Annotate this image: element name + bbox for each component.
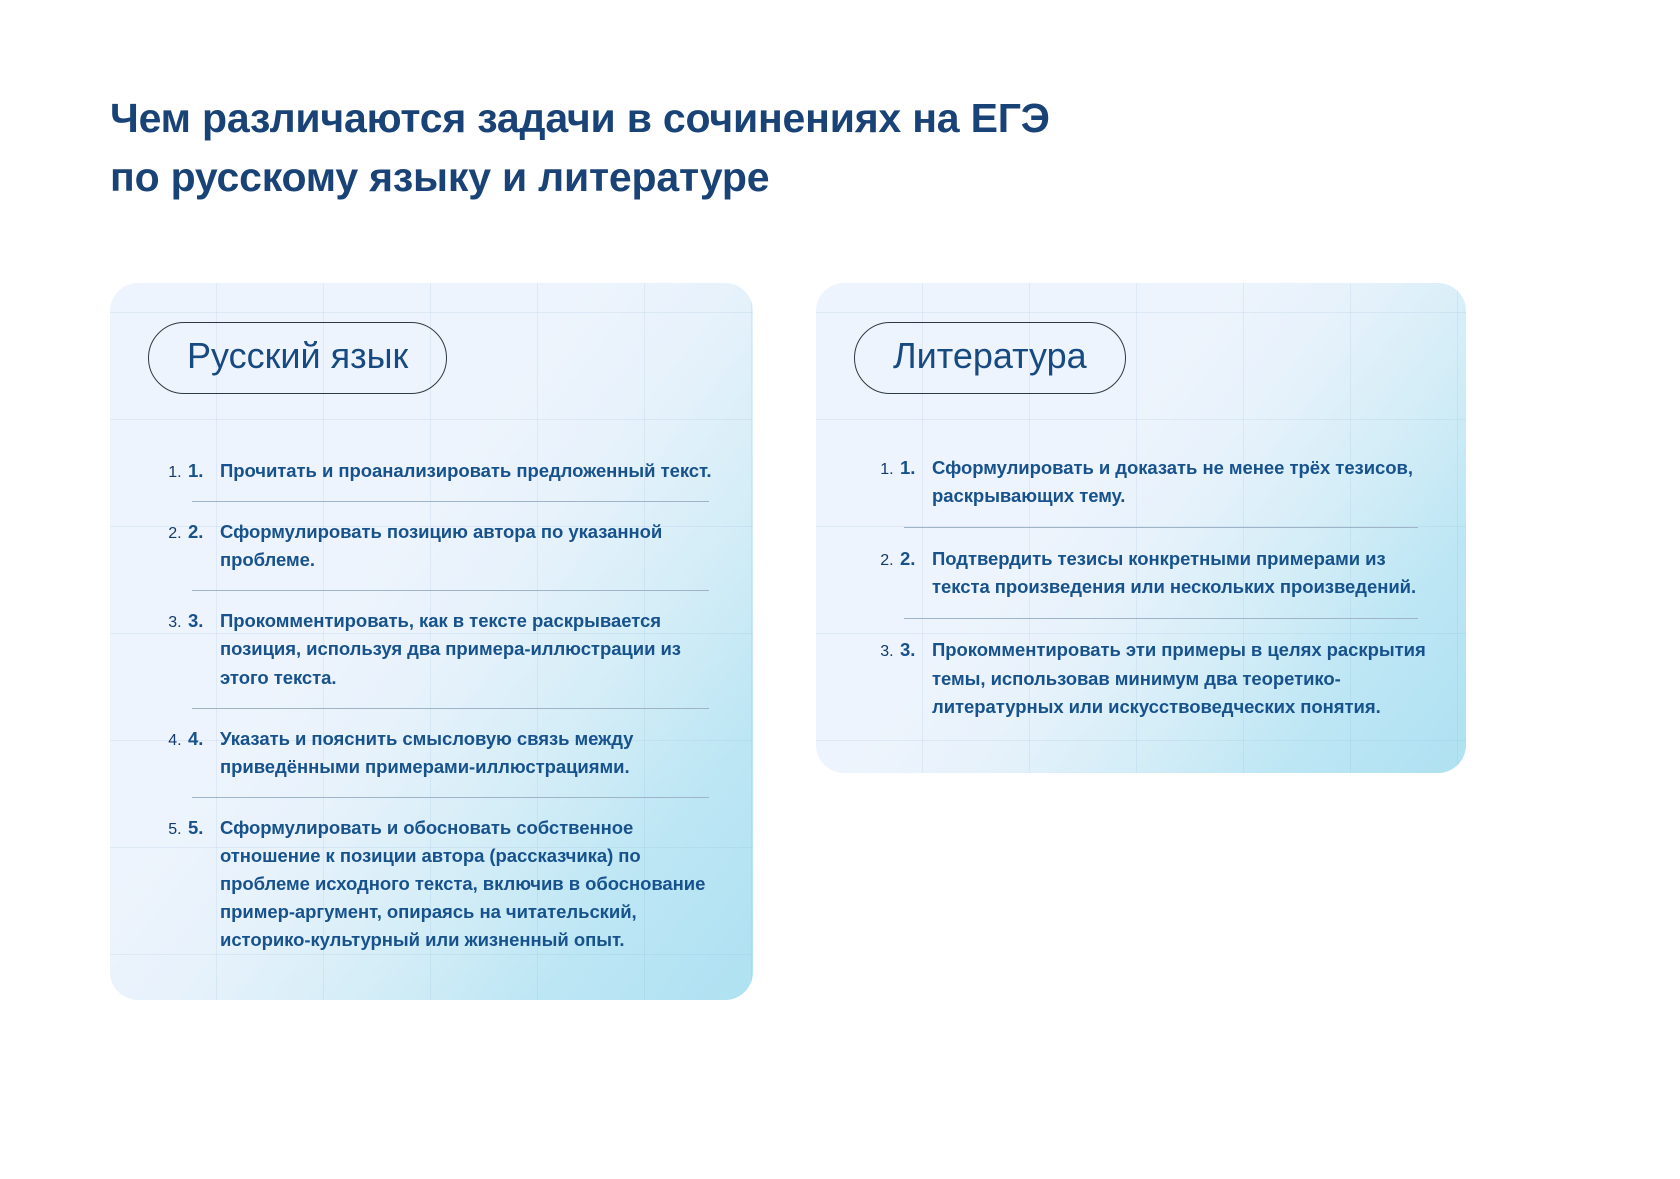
- task-number: 1.: [900, 454, 922, 482]
- comparison-cards: Русский язык 1. Прочитать и проанализиро…: [0, 0, 1680, 1179]
- list-item: 2. Подтвердить тезисы конкретными пример…: [898, 545, 1426, 601]
- list-item: 3. Прокомментировать эти примеры в целях…: [898, 636, 1426, 720]
- task-number: 4.: [188, 725, 210, 753]
- task-block: 2. Сформулировать позицию автора по указ…: [186, 518, 717, 591]
- task-text: Сформулировать и доказать не менее трёх …: [932, 454, 1426, 510]
- card-russian-language: Русский язык 1. Прочитать и проанализиро…: [110, 283, 753, 1000]
- list-divider: [192, 708, 709, 709]
- list-item: 3. Прокомментировать, как в тексте раскр…: [186, 607, 717, 691]
- task-block: 1. Сформулировать и доказать не менее тр…: [898, 454, 1426, 528]
- task-block: 3. Прокомментировать эти примеры в целях…: [898, 636, 1426, 720]
- list-divider: [904, 618, 1418, 619]
- subject-pill-label: Русский язык: [148, 322, 447, 394]
- task-number: 2.: [188, 518, 210, 546]
- task-number: 3.: [900, 636, 922, 664]
- task-text: Прочитать и проанализировать предложенны…: [220, 457, 712, 485]
- task-number: 2.: [900, 545, 922, 573]
- task-text: Прокомментировать эти примеры в целях ра…: [932, 636, 1426, 720]
- task-text: Прокомментировать, как в тексте раскрыва…: [220, 607, 717, 691]
- infographic-page: Чем различаются задачи в сочинениях на Е…: [0, 0, 1680, 1179]
- task-number: 1.: [188, 457, 210, 485]
- card-literature: Литература 1. Сформулировать и доказать …: [816, 283, 1466, 773]
- task-block: 5. Сформулировать и обосновать собственн…: [186, 814, 717, 955]
- list-divider: [904, 527, 1418, 528]
- list-item: 5. Сформулировать и обосновать собственн…: [186, 814, 717, 955]
- list-item: 4. Указать и пояснить смысловую связь ме…: [186, 725, 717, 781]
- subject-pill-label: Литература: [854, 322, 1126, 394]
- card-label-russian-language: Русский язык: [148, 322, 447, 394]
- list-item: 1. Прочитать и проанализировать предложе…: [186, 457, 717, 485]
- task-text: Указать и пояснить смысловую связь между…: [220, 725, 717, 781]
- task-number: 3.: [188, 607, 210, 635]
- task-block: 2. Подтвердить тезисы конкретными пример…: [898, 545, 1426, 619]
- task-text: Сформулировать и обосновать собственное …: [220, 814, 717, 955]
- task-block: 3. Прокомментировать, как в тексте раскр…: [186, 607, 717, 708]
- task-list-russian-language: 1. Прочитать и проанализировать предложе…: [146, 457, 717, 954]
- list-divider: [192, 501, 709, 502]
- list-item: 2. Сформулировать позицию автора по указ…: [186, 518, 717, 574]
- list-divider: [192, 590, 709, 591]
- list-divider: [192, 797, 709, 798]
- task-block: 4. Указать и пояснить смысловую связь ме…: [186, 725, 717, 798]
- task-list-literature: 1. Сформулировать и доказать не менее тр…: [858, 454, 1426, 721]
- task-text: Сформулировать позицию автора по указанн…: [220, 518, 717, 574]
- task-text: Подтвердить тезисы конкретными примерами…: [932, 545, 1426, 601]
- list-item: 1. Сформулировать и доказать не менее тр…: [898, 454, 1426, 510]
- card-label-literature: Литература: [854, 322, 1126, 394]
- task-number: 5.: [188, 814, 210, 842]
- task-block: 1. Прочитать и проанализировать предложе…: [186, 457, 717, 502]
